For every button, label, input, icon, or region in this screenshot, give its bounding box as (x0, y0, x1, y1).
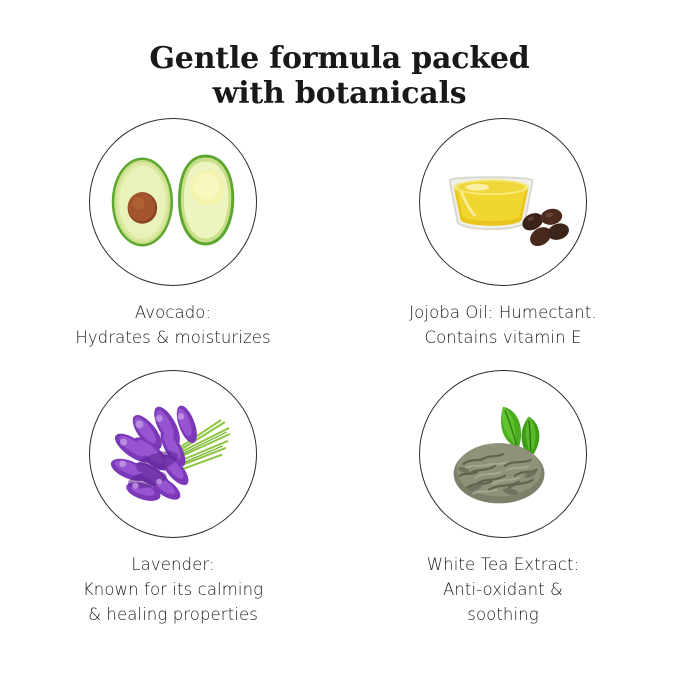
ingredient-grid: Avocado: Hydrates & moisturizes (0, 118, 679, 678)
ingredient-circle-white-tea (419, 370, 587, 538)
caption-line: Hydrates & moisturizes (8, 325, 338, 350)
white-tea-leaves-icon (420, 371, 586, 537)
title-line-2: with botanicals (0, 76, 679, 111)
ingredient-caption-white-tea: White Tea Extract: Anti-oxidant & soothi… (338, 552, 668, 627)
ingredient-card-white-tea: White Tea Extract: Anti-oxidant & soothi… (338, 370, 668, 627)
ingredient-card-jojoba-oil: Jojoba Oil: Humectant. Contains vitamin … (338, 118, 668, 350)
ingredient-card-lavender: Lavender: Known for its calming & healin… (8, 370, 338, 627)
caption-line: Avocado: (8, 300, 338, 325)
caption-line: Contains vitamin E (338, 325, 668, 350)
ingredient-caption-jojoba-oil: Jojoba Oil: Humectant. Contains vitamin … (338, 300, 668, 350)
caption-line: Lavender: (8, 552, 338, 577)
ingredient-card-avocado: Avocado: Hydrates & moisturizes (8, 118, 338, 350)
caption-line: soothing (338, 602, 668, 627)
ingredient-caption-lavender: Lavender: Known for its calming & healin… (8, 552, 338, 627)
ingredient-circle-jojoba-oil (419, 118, 587, 286)
page-title: Gentle formula packed with botanicals (0, 41, 679, 111)
caption-line: & healing properties (8, 602, 338, 627)
avocado-halves-icon (90, 119, 256, 285)
ingredient-caption-avocado: Avocado: Hydrates & moisturizes (8, 300, 338, 350)
caption-line: Jojoba Oil: Humectant. (338, 300, 668, 325)
caption-line: Anti-oxidant & (338, 577, 668, 602)
lavender-bunch-icon (90, 371, 256, 537)
jojoba-oil-bowl-icon (420, 119, 586, 285)
ingredient-circle-lavender (89, 370, 257, 538)
title-line-1: Gentle formula packed (149, 41, 529, 76)
caption-line: White Tea Extract: (338, 552, 668, 577)
ingredient-circle-avocado (89, 118, 257, 286)
ingredients-infographic: Gentle formula packed with botanicals (0, 0, 679, 679)
caption-line: Known for its calming (8, 577, 338, 602)
